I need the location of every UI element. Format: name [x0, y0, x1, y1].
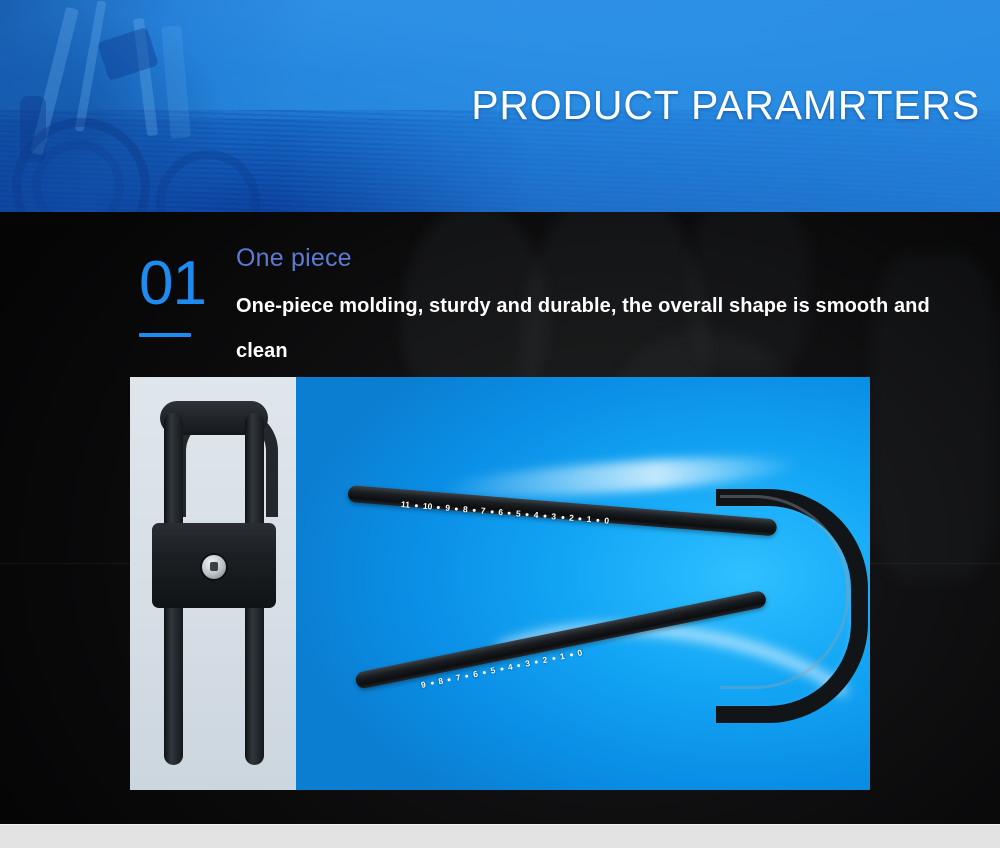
footer-strip [0, 824, 1000, 848]
section-description: One-piece molding, sturdy and durable, t… [236, 284, 936, 374]
scale-dot [569, 653, 573, 657]
section-number: 01 [139, 255, 234, 313]
scale-dot [535, 660, 539, 664]
scale-number: 9 [420, 679, 427, 690]
u-lock-top-arm [347, 485, 777, 536]
u-lock-bottom-arm [354, 590, 767, 690]
scale-dot [500, 667, 504, 671]
product-image-left-panel [130, 377, 296, 790]
section-subtitle: One piece [236, 243, 936, 274]
section-number-block: 01 [139, 255, 234, 337]
section-number-underline [139, 333, 191, 337]
scale-dot [448, 677, 452, 681]
scale-dot [552, 656, 556, 660]
scale-number: 5 [490, 665, 497, 676]
product-detail-page: PRODUCT PARAMRTERS 01 One piece One-piec… [0, 0, 1000, 848]
banner-bicycle-photo [0, 0, 320, 212]
lock-keyhole [202, 555, 226, 579]
scale-number: 0 [576, 647, 583, 658]
scale-number: 6 [472, 669, 479, 680]
scale-number: 2 [542, 654, 549, 665]
product-image: 11109876543210 9876543210 [130, 377, 870, 790]
open-u-lock-illustration: 11109876543210 9876543210 [296, 377, 870, 790]
section-heading-block: One piece One-piece molding, sturdy and … [236, 243, 936, 374]
hero-banner: PRODUCT PARAMRTERS [0, 0, 1000, 212]
scale-number: 7 [455, 672, 462, 683]
scale-dot [465, 674, 469, 678]
scale-number: 8 [437, 676, 444, 687]
page-title: PRODUCT PARAMRTERS [471, 82, 980, 129]
closed-u-lock-illustration [150, 395, 278, 773]
scale-number: 3 [524, 658, 531, 669]
scale-number: 1 [559, 651, 566, 662]
scale-dot [517, 663, 521, 667]
scale-dot [430, 681, 434, 685]
scale-number: 4 [507, 661, 514, 672]
scale-dot [482, 670, 486, 674]
footer-strip-edge [0, 824, 1000, 825]
